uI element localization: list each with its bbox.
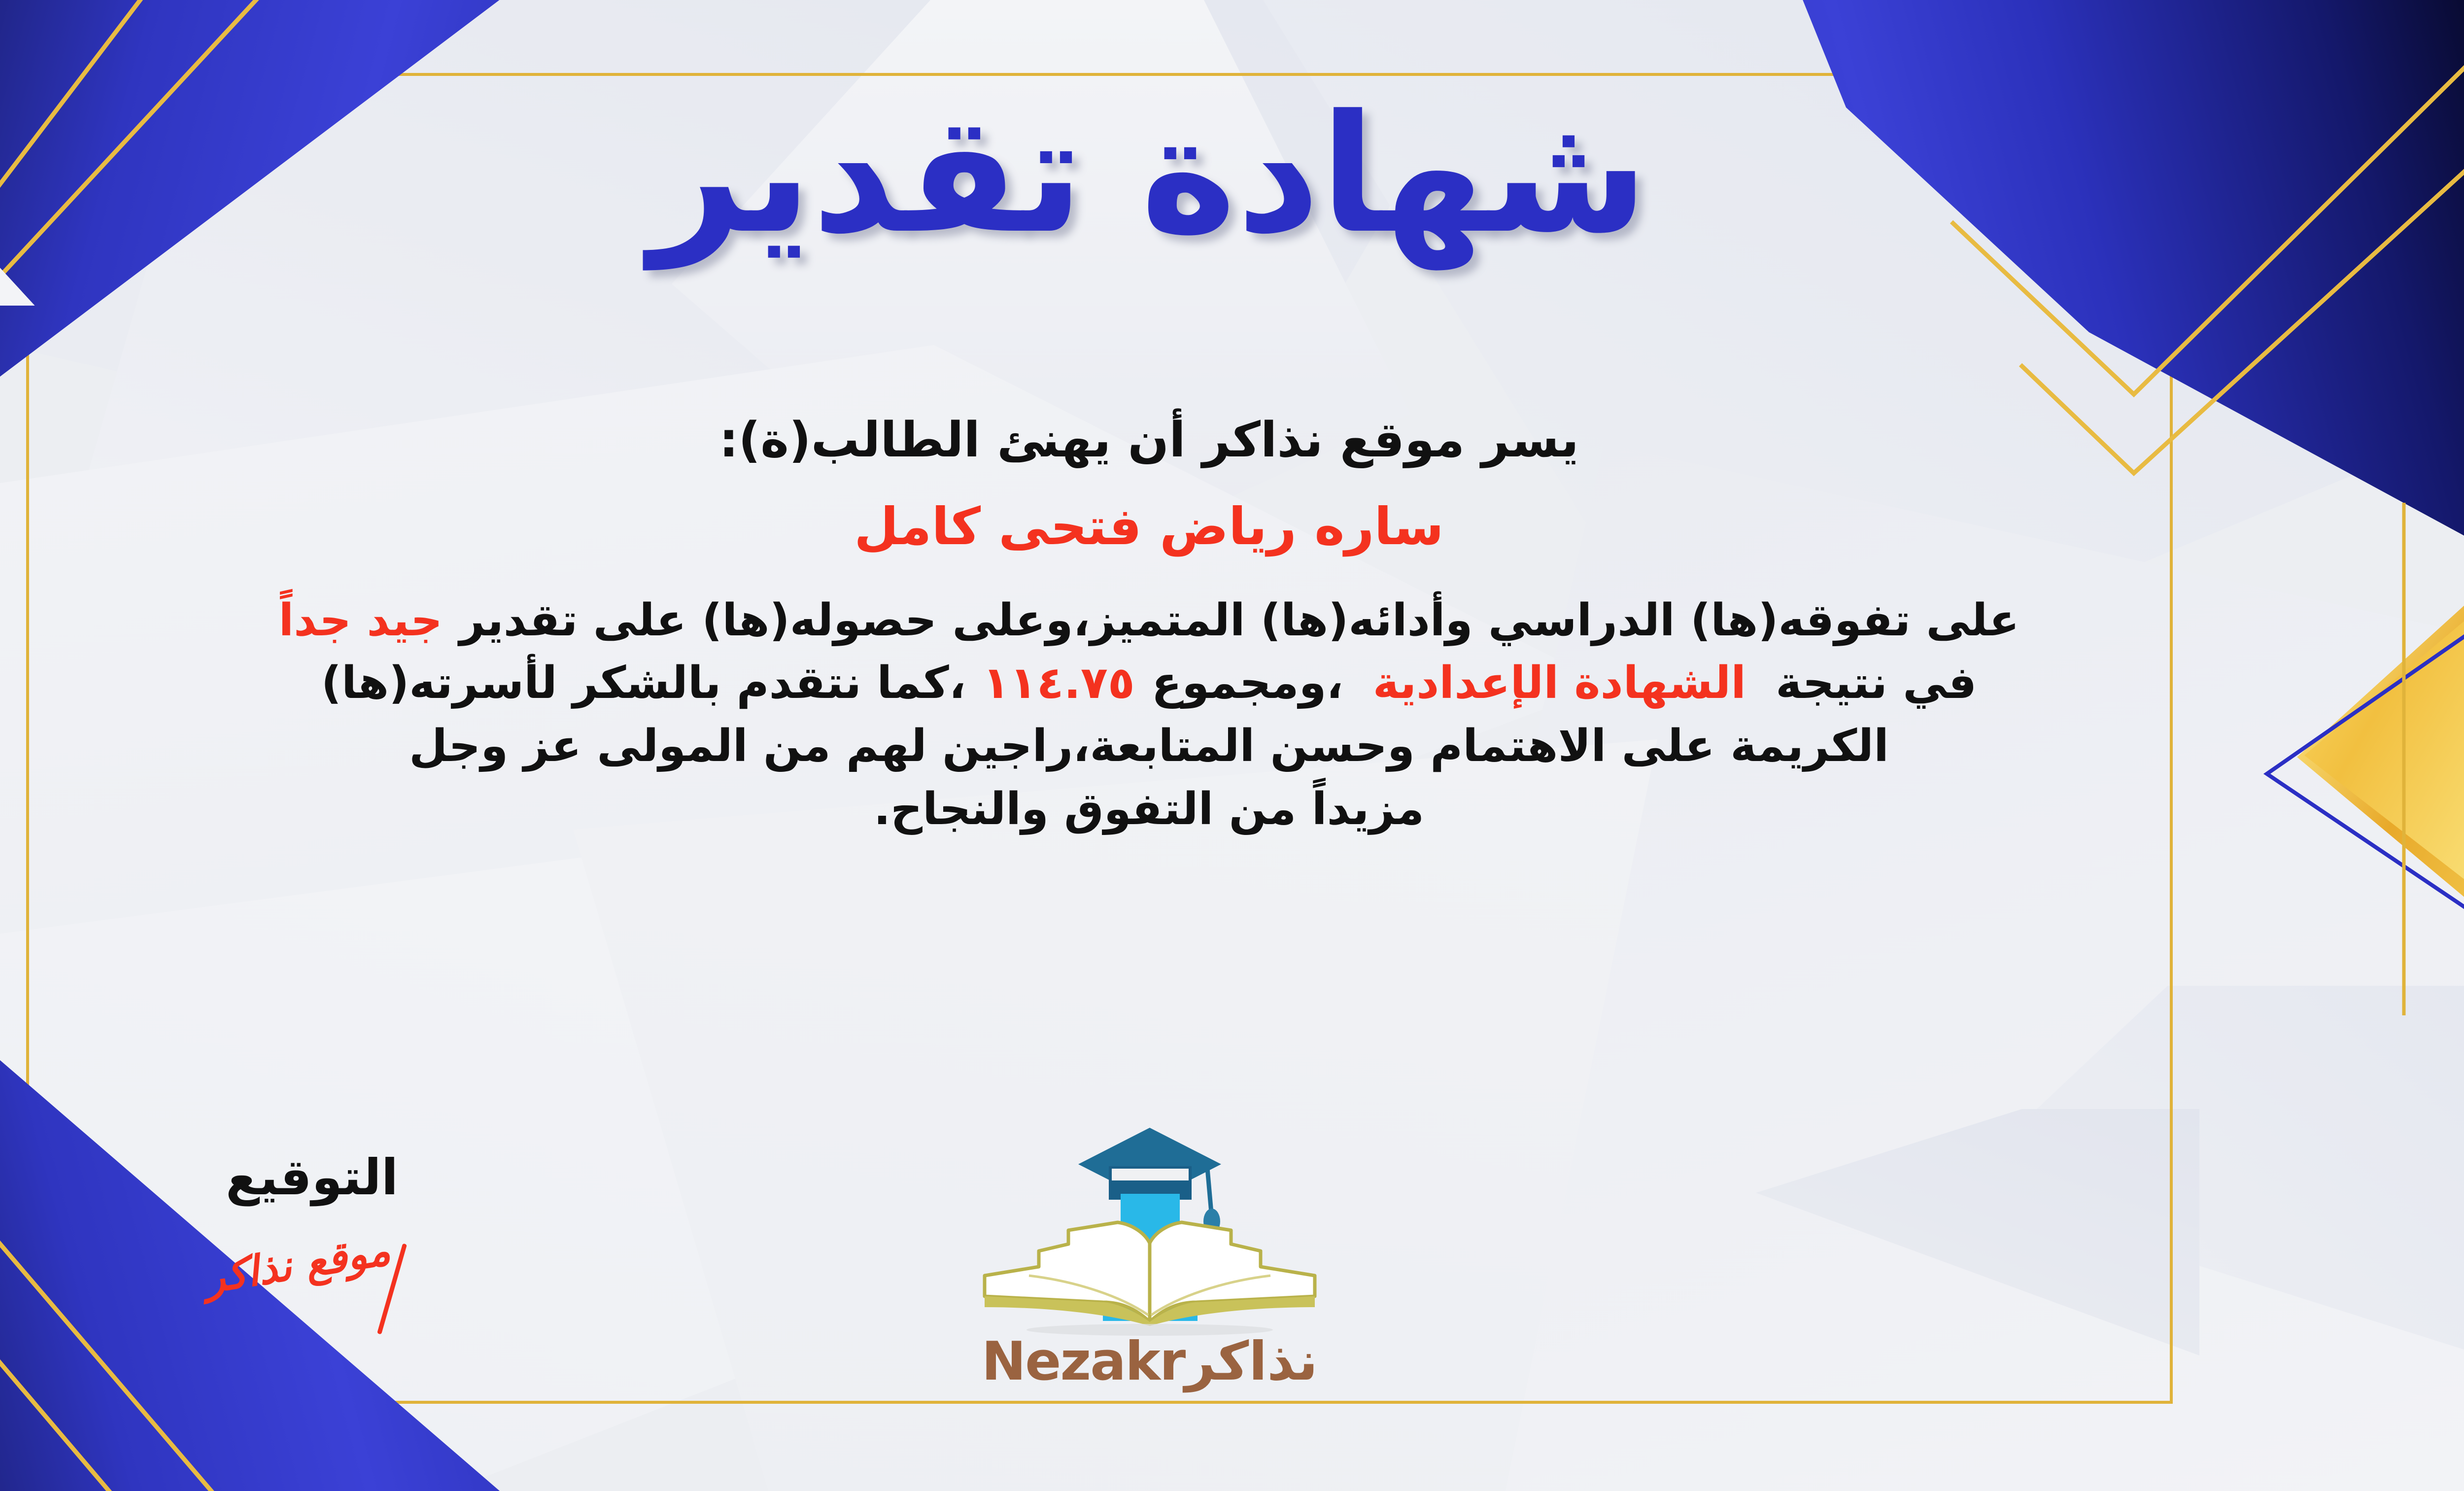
achievement-line-3: الكريمة على الاهتمام وحسن المتابعة،راجين… (409, 720, 1889, 772)
certificate-body: يسر موقع نذاكر أن يهنئ الطالب(ة): ساره ر… (41, 409, 2257, 841)
student-name: ساره رياض فتحى كامل (41, 493, 2257, 560)
nezakr-logo: نذاكرNezakr (955, 1119, 1344, 1424)
achievement-paragraph: على تفوقه(ها) الدراسي وأدائه(ها) المتميز… (41, 589, 2257, 841)
intro-line: يسر موقع نذاكر أن يهنئ الطالب(ة): (41, 409, 2257, 472)
score-value: ١١٤.٧٥ (983, 657, 1135, 709)
logo-graphic (955, 1119, 1344, 1336)
achievement-line-4: مزيداً من التفوق والنجاح. (874, 783, 1424, 835)
exam-name: الشهادة الإعدادية (1373, 657, 1746, 709)
thanks-fragment: ،كما نتقدم بالشكر لأسرته(ها) (321, 657, 966, 709)
certificate-canvas: شهادة تقدير يسر موقع نذاكر أن يهنئ الطال… (0, 0, 2464, 1491)
grade-value: جيد جداً (278, 594, 443, 646)
total-label: ،ومجموع (1152, 657, 1343, 709)
logo-wordmark: نذاكرNezakr (955, 1331, 1344, 1392)
certificate-title: شهادة تقدير (0, 73, 2464, 277)
result-label: في نتيجة (1776, 657, 1977, 709)
achievement-line-1: على تفوقه(ها) الدراسي وأدائه(ها) المتميز… (459, 594, 2019, 646)
